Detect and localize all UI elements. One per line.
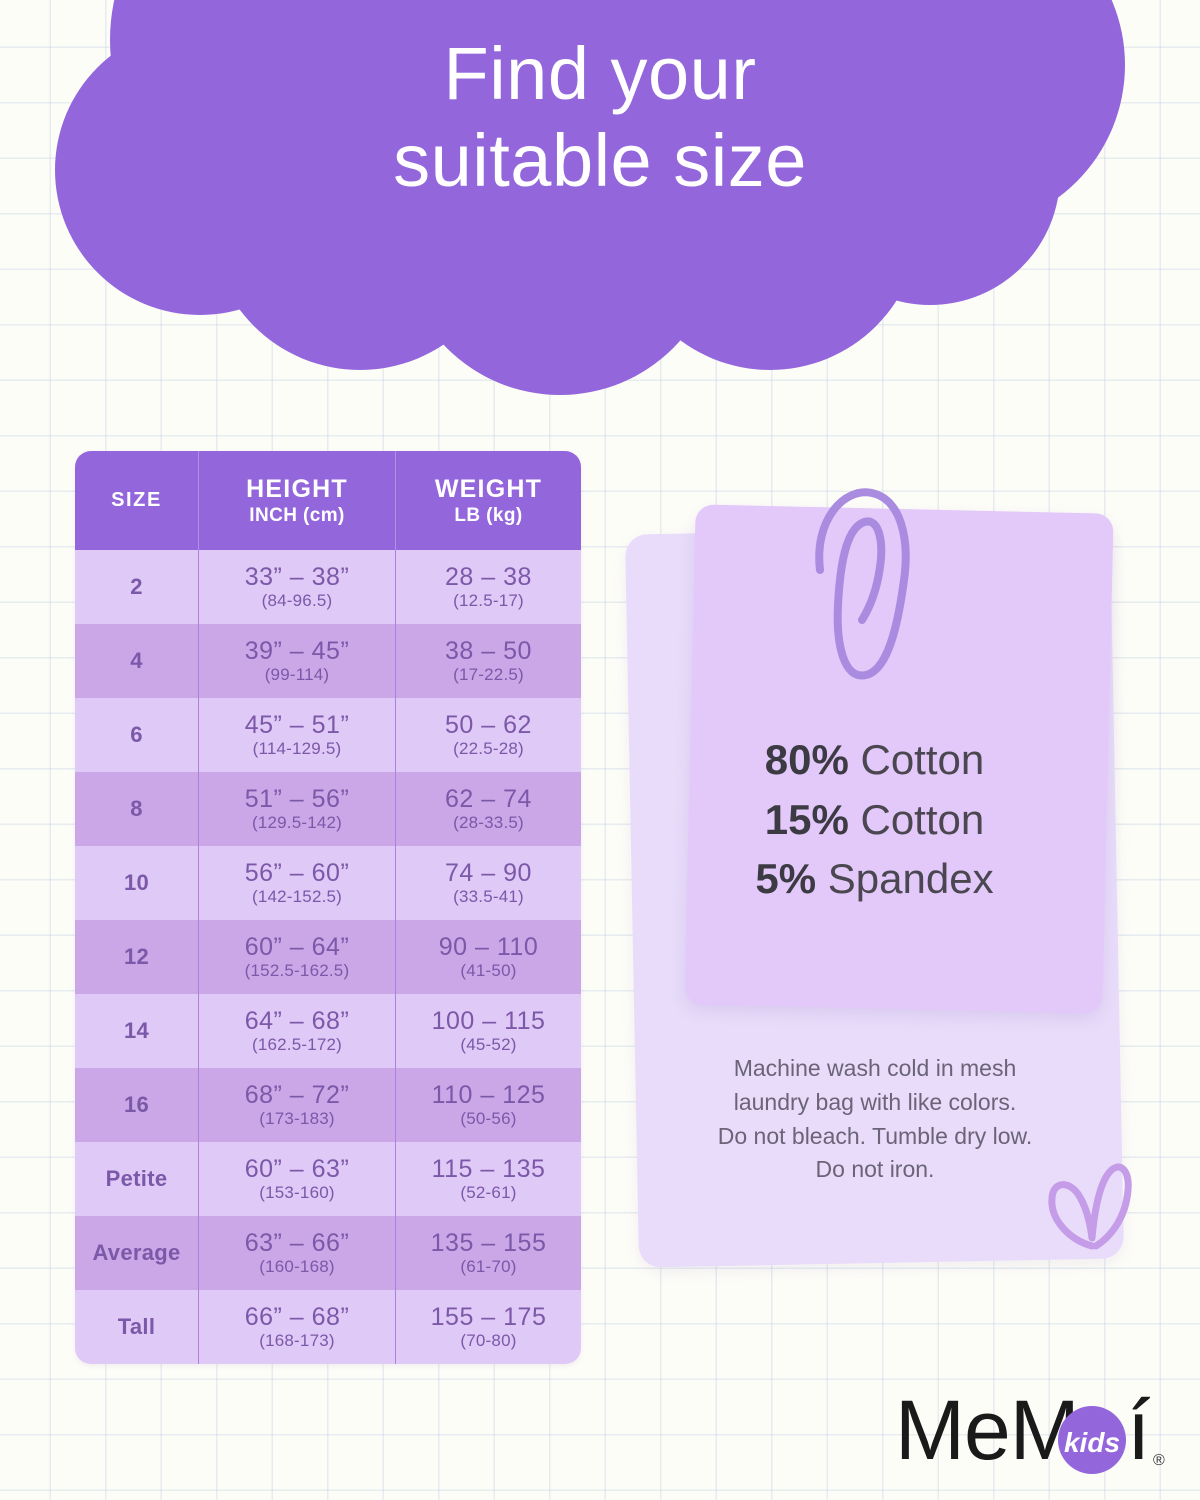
table-row: Tall66” – 68”(168-173)155 – 175(70-80) <box>75 1290 581 1364</box>
table-row: Petite60” – 63”(153-160)115 – 135(52-61) <box>75 1142 581 1216</box>
cell-size: Petite <box>75 1142 199 1216</box>
cell-weight-lb: 115 – 135 <box>432 1155 546 1184</box>
cell-size: 6 <box>75 698 199 772</box>
cell-weight: 90 – 110(41-50) <box>396 920 581 994</box>
cell-height-cm: (153-160) <box>259 1183 335 1203</box>
cell-size-value: 4 <box>130 648 143 674</box>
table-row: 1260” – 64”(152.5-162.5)90 – 110(41-50) <box>75 920 581 994</box>
table-row: 233” – 38”(84-96.5)28 – 38(12.5-17) <box>75 550 581 624</box>
cell-size-value: 16 <box>124 1092 149 1118</box>
care-instruction-line: laundry bag with like colors. <box>640 1086 1110 1120</box>
cell-size: 10 <box>75 846 199 920</box>
cell-height: 51” – 56”(129.5-142) <box>199 772 396 846</box>
memoi-kids-logo: MeMo kids í ® <box>895 1385 1170 1490</box>
cell-height-cm: (114-129.5) <box>253 739 342 759</box>
composition-percent: 5% <box>755 855 816 902</box>
cell-weight: 38 – 50(17-22.5) <box>396 624 581 698</box>
cell-weight-lb: 155 – 175 <box>431 1303 547 1332</box>
table-row: Average63” – 66”(160-168)135 – 155(61-70… <box>75 1216 581 1290</box>
cell-weight-kg: (22.5-28) <box>453 739 524 759</box>
cell-size-value: 6 <box>130 722 143 748</box>
cell-size: Tall <box>75 1290 199 1364</box>
cell-height-inch: 64” – 68” <box>245 1007 350 1036</box>
composition-percent: 15% <box>765 796 849 843</box>
cell-height-cm: (168-173) <box>259 1331 335 1351</box>
cell-weight-lb: 50 – 62 <box>445 711 532 740</box>
table-row: 645” – 51”(114-129.5)50 – 62(22.5-28) <box>75 698 581 772</box>
cell-size: 12 <box>75 920 199 994</box>
cell-weight-kg: (33.5-41) <box>453 887 524 907</box>
cell-weight-kg: (52-61) <box>460 1183 516 1203</box>
size-chart-table: SIZE HEIGHT INCH (cm) WEIGHT LB (kg) 233… <box>75 451 581 1364</box>
cell-height: 68” – 72”(173-183) <box>199 1068 396 1142</box>
cell-height-cm: (84-96.5) <box>262 591 333 611</box>
cell-size: 14 <box>75 994 199 1068</box>
cell-size-value: Average <box>92 1240 180 1266</box>
column-header-height-subtitle: INCH (cm) <box>249 505 344 527</box>
cell-height: 66” – 68”(168-173) <box>199 1290 396 1364</box>
cell-size: 2 <box>75 550 199 624</box>
cell-weight-kg: (70-80) <box>460 1331 516 1351</box>
cell-size-value: 10 <box>124 870 149 896</box>
cell-weight-kg: (50-56) <box>460 1109 516 1129</box>
cell-weight: 135 – 155(61-70) <box>396 1216 581 1290</box>
cell-weight-kg: (12.5-17) <box>453 591 524 611</box>
logo-trademark: ® <box>1153 1452 1165 1469</box>
composition-line: 80% Cotton <box>632 730 1117 790</box>
cell-weight: 155 – 175(70-80) <box>396 1290 581 1364</box>
cell-height-inch: 60” – 63” <box>245 1155 350 1184</box>
cell-height-inch: 66” – 68” <box>245 1303 350 1332</box>
cell-height-inch: 60” – 64” <box>245 933 350 962</box>
cell-weight-lb: 62 – 74 <box>445 785 532 814</box>
cell-size: 16 <box>75 1068 199 1142</box>
column-header-weight: WEIGHT LB (kg) <box>396 451 581 550</box>
cell-size-value: 14 <box>124 1018 149 1044</box>
cell-height: 63” – 66”(160-168) <box>199 1216 396 1290</box>
cell-weight-lb: 100 – 115 <box>432 1007 546 1036</box>
column-header-weight-subtitle: LB (kg) <box>454 505 522 527</box>
care-instruction-line: Do not bleach. Tumble dry low. <box>640 1120 1110 1154</box>
paperclip-icon <box>800 475 920 685</box>
cell-height-inch: 56” – 60” <box>245 859 350 888</box>
composition-line: 15% Cotton <box>632 790 1117 850</box>
cell-weight: 115 – 135(52-61) <box>396 1142 581 1216</box>
care-instruction-line: Machine wash cold in mesh <box>640 1052 1110 1086</box>
cell-height-cm: (152.5-162.5) <box>245 961 350 981</box>
heart-icon <box>1040 1150 1140 1260</box>
cell-size-value: Petite <box>106 1166 168 1192</box>
column-header-size-title: SIZE <box>111 489 162 512</box>
cell-height-cm: (173-183) <box>259 1109 335 1129</box>
logo-accent-letter: í <box>1127 1385 1150 1477</box>
cell-height-inch: 39” – 45” <box>245 637 350 666</box>
cell-height-cm: (99-114) <box>265 665 330 685</box>
cell-weight: 74 – 90(33.5-41) <box>396 846 581 920</box>
cell-weight-lb: 28 – 38 <box>445 563 532 592</box>
cell-weight-kg: (61-70) <box>460 1257 516 1277</box>
cell-height-cm: (162.5-172) <box>252 1035 342 1055</box>
title-line-2: suitable size <box>0 117 1200 204</box>
cell-weight-kg: (28-33.5) <box>453 813 524 833</box>
column-header-size: SIZE <box>75 451 199 550</box>
cell-height-cm: (142-152.5) <box>252 887 342 907</box>
cell-height: 56” – 60”(142-152.5) <box>199 846 396 920</box>
table-row: 851” – 56”(129.5-142)62 – 74(28-33.5) <box>75 772 581 846</box>
cell-height-inch: 45” – 51” <box>245 711 350 740</box>
table-row: 1464” – 68”(162.5-172)100 – 115(45-52) <box>75 994 581 1068</box>
cell-weight-kg: (41-50) <box>460 961 516 981</box>
table-row: 439” – 45”(99-114)38 – 50(17-22.5) <box>75 624 581 698</box>
cell-size-value: 2 <box>130 574 143 600</box>
cell-weight-lb: 110 – 125 <box>432 1081 546 1110</box>
composition-material: Cotton <box>860 796 984 843</box>
cell-height-inch: 33” – 38” <box>245 563 350 592</box>
cell-weight: 50 – 62(22.5-28) <box>396 698 581 772</box>
column-header-weight-title: WEIGHT <box>435 475 542 504</box>
fabric-composition: 80% Cotton 15% Cotton 5% Spandex <box>632 730 1117 909</box>
cell-height: 33” – 38”(84-96.5) <box>199 550 396 624</box>
table-row: 1668” – 72”(173-183)110 – 125(50-56) <box>75 1068 581 1142</box>
cell-weight-lb: 135 – 155 <box>431 1229 547 1258</box>
cell-weight: 100 – 115(45-52) <box>396 994 581 1068</box>
composition-material: Spandex <box>828 855 994 902</box>
composition-line: 5% Spandex <box>632 849 1117 909</box>
cell-size: 4 <box>75 624 199 698</box>
cell-weight: 62 – 74(28-33.5) <box>396 772 581 846</box>
cell-size-value: 12 <box>124 944 149 970</box>
cell-weight-lb: 38 – 50 <box>445 637 532 666</box>
table-row: 1056” – 60”(142-152.5)74 – 90(33.5-41) <box>75 846 581 920</box>
cell-height-inch: 68” – 72” <box>245 1081 350 1110</box>
cell-height: 60” – 64”(152.5-162.5) <box>199 920 396 994</box>
cell-weight: 110 – 125(50-56) <box>396 1068 581 1142</box>
title-line-1: Find your <box>0 30 1200 117</box>
table-header-row: SIZE HEIGHT INCH (cm) WEIGHT LB (kg) <box>75 451 581 550</box>
cell-weight-kg: (45-52) <box>460 1035 516 1055</box>
cell-weight-lb: 90 – 110 <box>439 933 538 962</box>
cell-height: 64” – 68”(162.5-172) <box>199 994 396 1068</box>
composition-percent: 80% <box>765 736 849 783</box>
cell-height-inch: 63” – 66” <box>245 1229 350 1258</box>
cell-size-value: Tall <box>118 1314 155 1340</box>
cell-size-value: 8 <box>130 796 143 822</box>
cell-size: 8 <box>75 772 199 846</box>
cell-size: Average <box>75 1216 199 1290</box>
table-body: 233” – 38”(84-96.5)28 – 38(12.5-17)439” … <box>75 550 581 1364</box>
cell-height: 45” – 51”(114-129.5) <box>199 698 396 772</box>
column-header-height: HEIGHT INCH (cm) <box>199 451 396 550</box>
column-header-height-title: HEIGHT <box>246 475 348 504</box>
cell-height: 39” – 45”(99-114) <box>199 624 396 698</box>
page-title: Find your suitable size <box>0 30 1200 205</box>
cell-height-cm: (160-168) <box>259 1257 335 1277</box>
logo-kids-text: kids <box>1064 1427 1120 1458</box>
cell-weight-kg: (17-22.5) <box>453 665 524 685</box>
cell-height-inch: 51” – 56” <box>245 785 350 814</box>
cell-weight-lb: 74 – 90 <box>445 859 532 888</box>
cell-height-cm: (129.5-142) <box>252 813 342 833</box>
cell-weight: 28 – 38(12.5-17) <box>396 550 581 624</box>
composition-material: Cotton <box>860 736 984 783</box>
cell-height: 60” – 63”(153-160) <box>199 1142 396 1216</box>
